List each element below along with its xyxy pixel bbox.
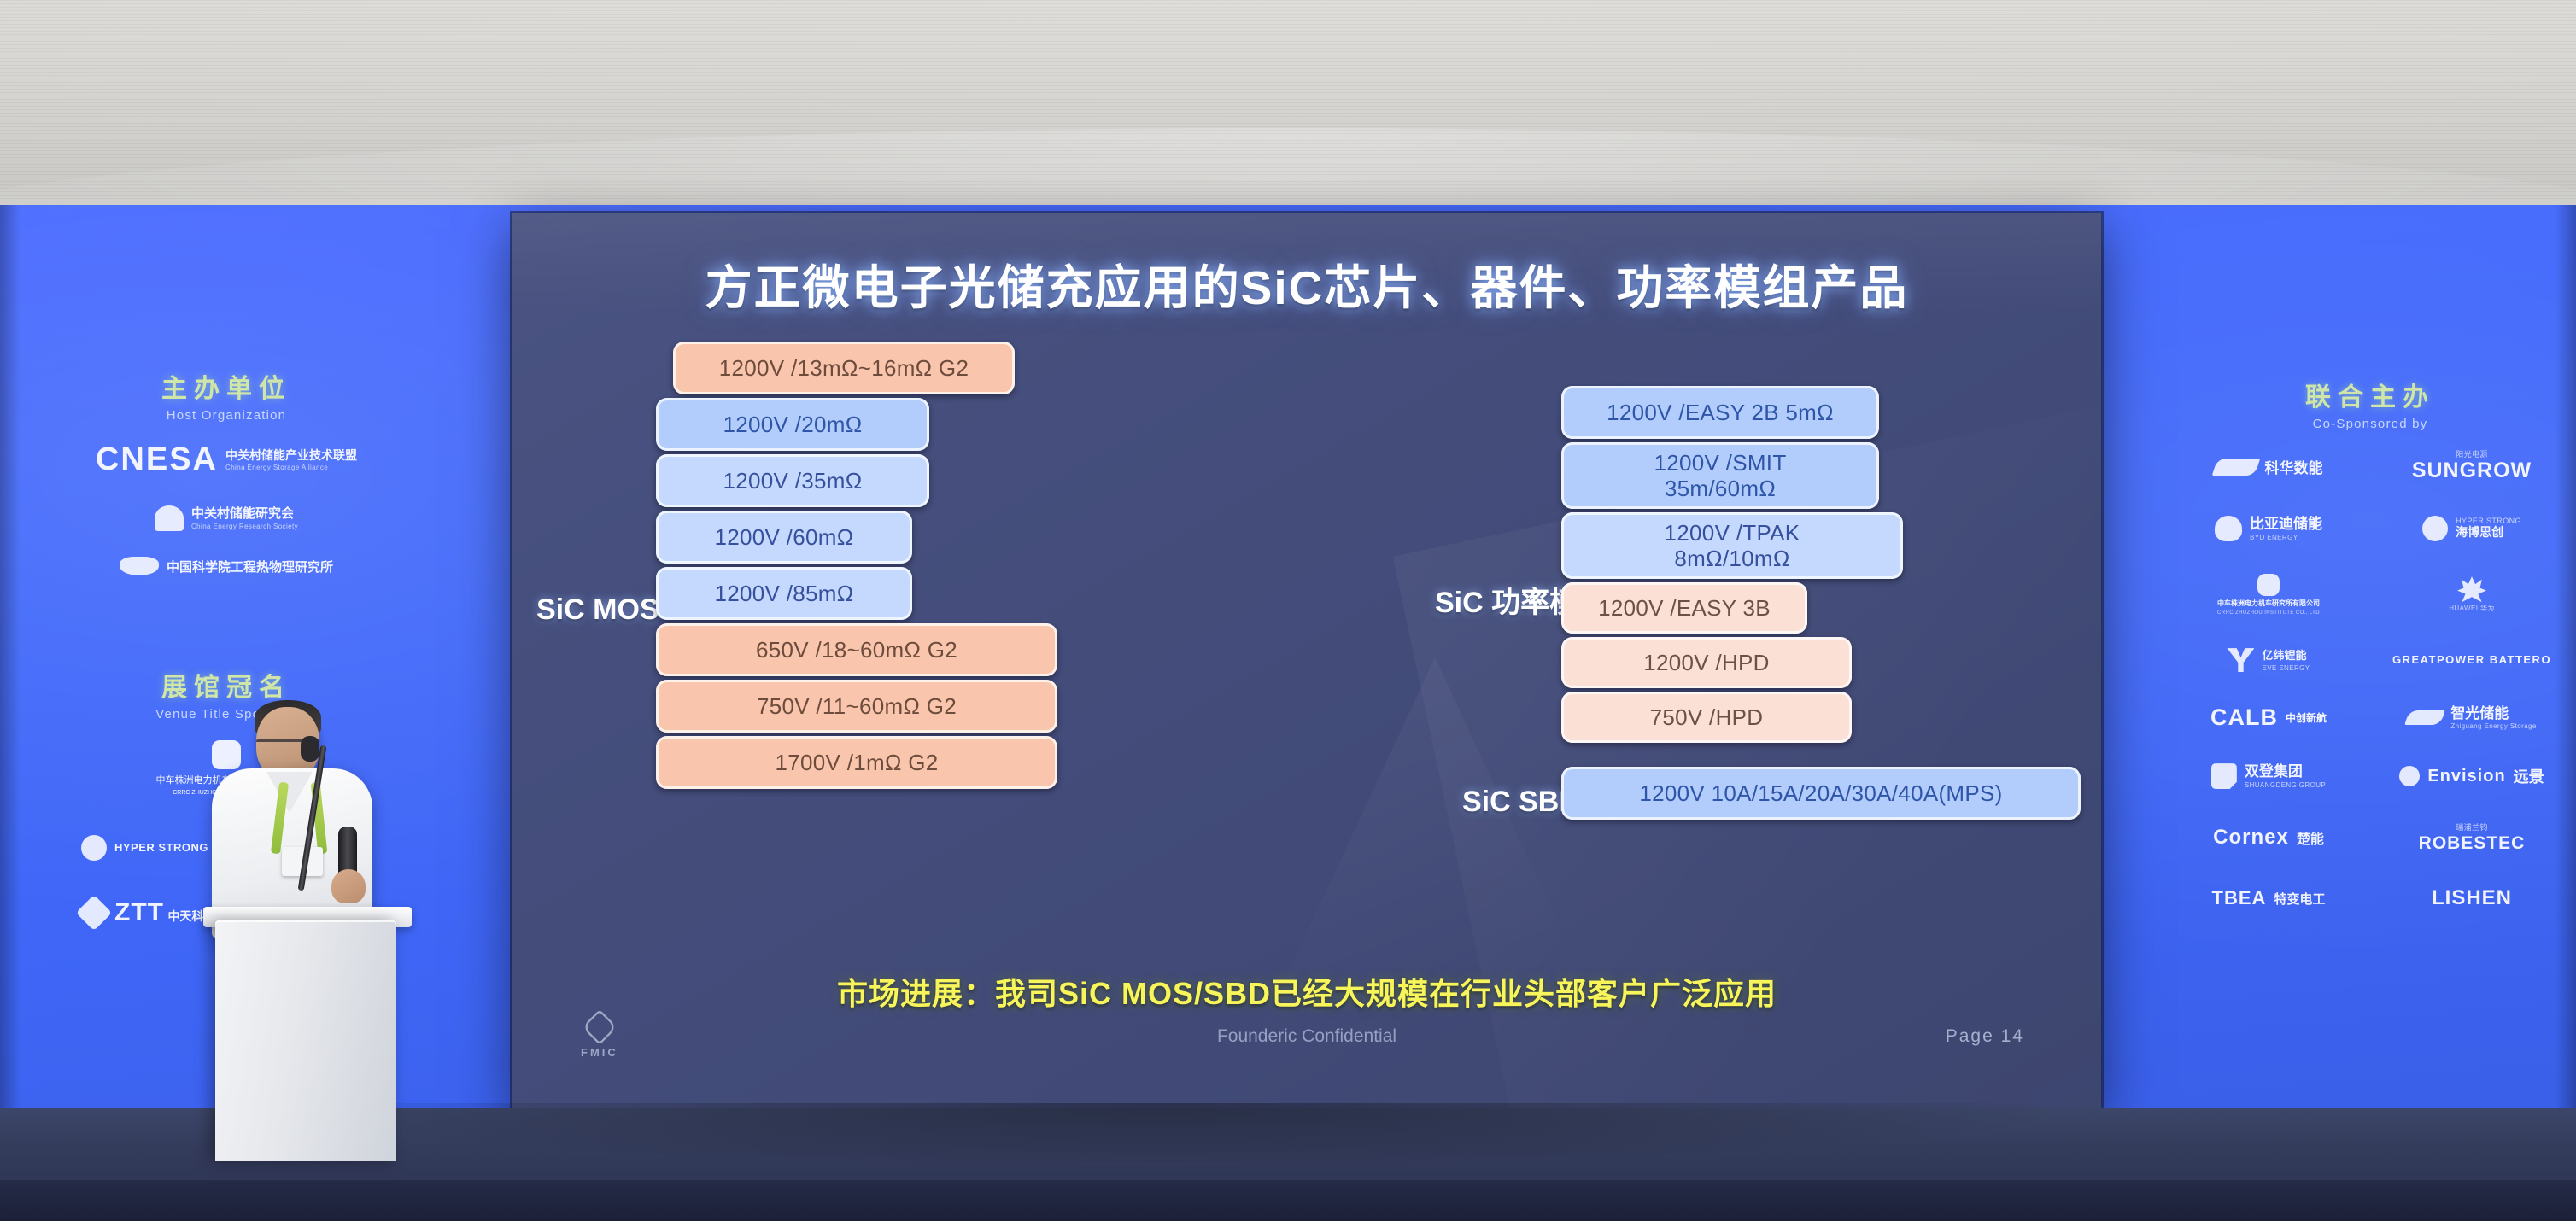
hex-icon [2257,574,2280,596]
logo-cnesa-latin: CNESA [96,441,218,478]
logo-robestec-cn: 瑞浦兰钧 [2456,821,2488,832]
stage-floor-shadow [282,1103,2041,1163]
logo-lishen: LISHEN [2373,886,2571,910]
spec-badge-module-0: 1200V /EASY 2B 5mΩ [1561,386,1879,439]
host-heading-cn: 主办单位 [47,367,406,405]
logo-sungrow-cn: 阳光电源 [2412,450,2532,459]
microphone-head [301,736,319,762]
sic-module-column: 功率模组支持联合开发定制 SiC 功率模组 SiC SBD 1200V /EAS… [1281,342,2084,990]
category-label-sic-mos: SiC MOS [536,593,659,627]
logo-hyperstrong-2: HYPER STRONG 海博思创 [2373,516,2571,541]
logo-eve-cn: 亿纬锂能 [2262,649,2306,662]
fmic-logo-text: FMIC [581,1046,618,1059]
logo-crrc-2: 中车株洲电力机车研究所有限公司 CRRC ZHUZHOU INSTITUTE C… [2169,574,2368,616]
footer-confidential-text: Founderic Confidential [512,1026,2101,1047]
logo-calb-latin: CALB [2210,704,2278,731]
stage-floor-front [0,1180,2576,1221]
market-progress-note: 市场进展：我司SiC MOS/SBD已经大规模在行业头部客户广泛应用 [512,969,2101,1014]
logo-cnesa: CNESA 中关村储能产业技术联盟 China Energy Storage A… [96,441,357,478]
podium: CNESA 储 CHINA ENERGY STORAGE ALLIANCE [215,920,396,1161]
logo-row-cnesa: CNESA 中关村储能产业技术联盟 China Energy Storage A… [47,441,406,478]
swoosh-icon [2405,710,2446,725]
spec-badge-module-2: 1200V /TPAK 8mΩ/10mΩ [1561,512,1903,579]
swoosh-icon [2211,459,2259,476]
logo-calb: CALB 中创新航 [2169,704,2368,731]
logo-crrc2-cn: 中车株洲电力机车研究所有限公司 [2217,599,2320,608]
logo-kehua: 科华数能 [2169,450,2368,483]
logo-kehua-cn: 科华数能 [2265,456,2323,477]
logo-cornex: Cornex 楚能 [2169,821,2368,854]
logo-calb-cn: 中创新航 [2286,710,2327,725]
logo-cnesa-sub: China Energy Storage Alliance [225,464,357,471]
logo-robestec: 瑞浦兰钧 ROBESTEC [2373,821,2571,854]
logo-shuangdeng-cn: 双登集团 [2245,763,2303,780]
logo-zhiguang-sub: Zhiguang Energy Storage [2450,722,2536,730]
logo-tbea-cn: 特变电工 [2274,890,2325,908]
spec-badge-mos-0: 1200V /13mΩ~16mΩ G2 [673,342,1015,394]
cosponsor-heading-cn: 联合主办 [2169,376,2571,413]
spec-badge-module-1: 1200V /SMIT 35m/60mΩ [1561,442,1879,509]
circle-icon [2399,766,2420,786]
logo-iet: 中国科学院工程热物理研究所 [120,557,333,575]
logo-ztt-latin: ZTT [114,898,164,926]
fan-icon [2457,576,2486,602]
bolt-icon [2211,763,2237,789]
slide-title: 方正微电子光储充应用的SiC芯片、器件、功率模组产品 [512,249,2101,318]
logo-huawei: HUAWEI 华为 [2373,574,2571,616]
wave-icon [120,557,159,575]
spec-badge-mos-7: 1700V /1mΩ G2 [656,736,1057,789]
logo-cornex-cn: 楚能 [2297,827,2324,848]
logo-byd-ess: 比亚迪储能 BYD ENERGY [2169,516,2368,541]
logo-envision: Envision 远景 [2373,763,2571,789]
diamond-icon [76,895,112,931]
speaker-hand [331,869,366,903]
spec-badge-mos-6: 750V /11~60mΩ G2 [656,680,1057,733]
host-organization-panel: 主办单位 Host Organization CNESA 中关村储能产业技术联盟… [47,367,406,575]
logo-hyperstrong2-latin: HYPER STRONG [2456,517,2521,525]
cosponsor-panel: 联合主办 Co-Sponsored by 科华数能 阳光电源 SUNGROW 比… [2169,376,2571,910]
logo-zhiguang: 智光储能 Zhiguang Energy Storage [2373,704,2571,731]
conference-stage-scene: 主办单位 Host Organization CNESA 中关村储能产业技术联盟… [0,0,2576,1221]
logo-eve-sub: EVE ENERGY [2262,664,2310,672]
logo-iet-cn: 中国科学院工程热物理研究所 [167,558,333,575]
logo-lishen-latin: LISHEN [2432,886,2512,910]
logo-shuangdeng-sub: SHUANGDENG GROUP [2245,781,2326,789]
lotus-icon [155,505,184,531]
spec-badge-module-5: 750V /HPD [1561,692,1852,743]
logo-cers: 中关村储能研究会 China Energy Research Society [155,505,298,531]
logo-battero-latin: GREATPOWER BATTERO [2392,653,2551,667]
y-icon [2227,648,2254,672]
logo-cers-sub: China Energy Research Society [191,523,298,530]
logo-byd-sub: BYD ENERGY [2250,534,2322,541]
spec-badge-mos-2: 1200V /35mΩ [656,454,929,507]
logo-hyperstrong-latin: HYPER STRONG [114,841,208,854]
circle-icon [2422,516,2448,541]
logo-sungrow-latin: SUNGROW [2412,459,2532,482]
logo-cers-cn: 中关村储能研究会 [191,506,294,521]
flower-icon [2215,516,2242,541]
logo-hyperstrong2-cn: 海博思创 [2456,525,2503,539]
spec-badge-module-3: 1200V /EASY 3B [1561,582,1807,634]
logo-row-iet: 中国科学院工程热物理研究所 [47,557,406,575]
logo-robestec-latin: ROBESTEC [2419,833,2526,854]
logo-eve: 亿纬锂能 EVE ENERGY [2169,648,2368,672]
logo-cnesa-cn: 中关村储能产业技术联盟 [225,448,357,462]
ceiling-surface [0,0,2576,224]
footer-page-number: Page 14 [1946,1026,2024,1047]
spec-badge-module-4: 1200V /HPD [1561,637,1852,688]
logo-huawei-cn: HUAWEI 华为 [2449,604,2495,613]
spec-badge-mos-5: 650V /18~60mΩ G2 [656,623,1057,676]
logo-envision-cn: 远景 [2514,765,2544,787]
sic-mos-column: SiC MOS 1200V /13mΩ~16mΩ G21200V /20mΩ12… [530,342,1247,956]
slide-footer: FMIC Founderic Confidential Page 14 [512,1026,2101,1060]
logo-sungrow: 阳光电源 SUNGROW [2373,450,2571,483]
spec-badge-module-6: 1200V 10A/15A/20A/30A/40A(MPS) [1561,767,2081,820]
hex-icon [212,740,241,769]
logo-crrc2-sub: CRRC ZHUZHOU INSTITUTE CO., LTD [2217,610,2320,616]
spec-badge-mos-4: 1200V /85mΩ [656,567,912,620]
logo-byd-cn: 比亚迪储能 [2250,516,2322,532]
venue-heading-cn: 展馆冠名 [47,666,406,704]
logo-battero: GREATPOWER BATTERO [2373,648,2571,672]
logo-cornex-latin: Cornex [2213,826,2289,850]
host-heading-en: Host Organization [47,408,406,423]
logo-ztt: ZTT 中天科技 [81,898,215,928]
logo-envision-latin: Envision [2427,767,2505,786]
cosponsor-logo-grid: 科华数能 阳光电源 SUNGROW 比亚迪储能 BYD ENERGY HYPER… [2169,450,2571,910]
spec-badge-mos-1: 1200V /20mΩ [656,398,929,451]
logo-tbea-latin: TBEA [2212,887,2267,909]
spec-badge-mos-3: 1200V /60mΩ [656,511,912,564]
cosponsor-heading-en: Co-Sponsored by [2169,417,2571,431]
projection-screen: 方正微电子光储充应用的SiC芯片、器件、功率模组产品 SiC MOS 1200V… [512,213,2101,1110]
circle-icon [81,835,107,861]
logo-row-cers: 中关村储能研究会 China Energy Research Society [47,505,406,531]
logo-tbea: TBEA 特变电工 [2169,886,2368,910]
logo-zhiguang-cn: 智光储能 [2450,705,2509,721]
venue-heading-en: Venue Title Sponsors [47,707,406,721]
backdrop-left-edge [0,205,20,1110]
logo-shuangdeng: 双登集团 SHUANGDENG GROUP [2169,763,2368,789]
